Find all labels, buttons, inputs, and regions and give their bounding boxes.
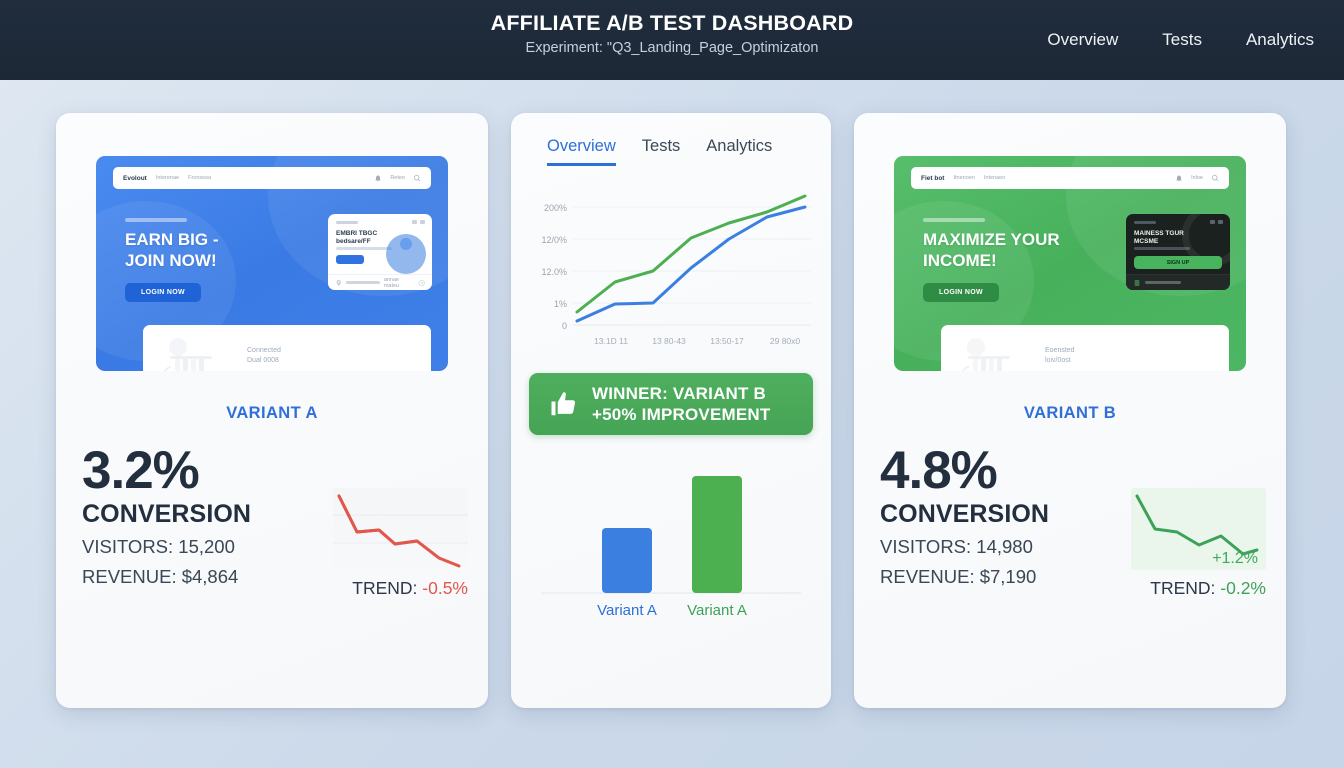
sparkline-svg [333,488,468,570]
panel-headline: EMBRI TBGC bedsare/FF [336,230,377,246]
mock-nav-item: Interenae [156,175,179,181]
nav-link-overview[interactable]: Overview [1047,30,1118,50]
panel-footer: annae mateu [328,274,432,290]
svg-text:12.0%: 12.0% [541,267,567,277]
winner-line-2: +50% IMPROVEMENT [592,404,770,425]
search-icon [413,174,421,182]
panel-button[interactable] [336,255,364,264]
svg-text:12/0%: 12/0% [541,235,567,245]
variant-b-stats: 4.8% CONVERSION VISITORS: 14,980 REVENUE… [874,446,1266,599]
location-pin-icon [335,279,342,287]
svg-text:13:50-17: 13:50-17 [710,336,744,346]
arrow-circle-icon [418,279,425,287]
mock-kicker-bar [125,218,187,222]
mock-nav-label: Reteo [390,175,405,181]
variant-a-trend-value: -0.5% [422,578,468,598]
panel-footer-note: annae mateu [384,277,414,289]
nav-link-analytics[interactable]: Analytics [1246,30,1314,50]
variant-a-trend-label: TREND: [352,578,417,598]
mock-kicker-bar [923,218,985,222]
mock-headline: EARN BIG - JOIN NOW! [125,230,219,271]
variant-b-primary-stats: 4.8% CONVERSION VISITORS: 14,980 REVENUE… [874,446,1049,588]
variant-b-revenue: REVENUE: $7,190 [880,565,1049,589]
svg-text:200%: 200% [544,203,567,213]
mock-nav-item: Intenaeo [984,175,1005,181]
panel-footer [1126,274,1230,290]
panel-dot [412,220,417,224]
mock-headline: MAXIMIZE YOUR INCOME! [923,230,1060,271]
panel-footer-line [1145,281,1181,284]
bell-icon [1175,174,1183,182]
thumbs-up-icon [549,389,579,419]
panel-top-line [1134,221,1156,224]
variant-a-conversion-value: 3.2% [82,446,251,497]
svg-text:29 80x0: 29 80x0 [770,336,801,346]
mock-nav-item: Fronsesa [188,175,211,181]
mock-hero-panel: MAINESS TGUR MCSME SIGN UP [1126,214,1230,290]
panel-dot [1210,220,1215,224]
variant-a-revenue: REVENUE: $4,864 [82,565,251,589]
variant-b-sparkline-label: +1.2% [1212,550,1258,568]
card-tabs: Overview Tests Analytics [511,131,831,166]
mock-navbar: Evolout Interenae Fronsesa Reteo [113,167,431,189]
panel-window-dots [412,220,425,224]
panel-window-dots [1210,220,1223,224]
variant-b-conversion-label: CONVERSION [880,500,1049,529]
search-icon [1211,174,1219,182]
variant-b-visitors: VISITORS: 14,980 [880,535,1049,559]
svg-text:13 80-43: 13 80-43 [652,336,686,346]
nav-link-tests[interactable]: Tests [1162,30,1202,50]
variant-a-stats: 3.2% CONVERSION VISITORS: 15,200 REVENUE… [76,446,468,599]
variant-a-sparkline-group: TREND: -0.5% [328,446,468,599]
variant-a-primary-stats: 3.2% CONVERSION VISITORS: 15,200 REVENUE… [76,446,251,588]
variant-a-visitors: VISITORS: 15,200 [82,535,251,559]
app-header: AFFILIATE A/B TEST DASHBOARD Experiment:… [0,0,1344,80]
winner-text: WINNER: VARIANT B +50% IMPROVEMENT [592,383,770,425]
mock-cta-button[interactable]: LOGIN NOW [923,283,999,302]
tab-analytics[interactable]: Analytics [706,137,772,166]
variant-a-conversion-label: CONVERSION [82,500,251,529]
bar-variant-a [602,528,652,593]
summary-card: Overview Tests Analytics 200% 12/0% 12.0… [511,113,831,708]
conversion-bar-chart: Variant A Variant A [531,463,811,628]
mock-navbar-actions: Reteo [374,174,421,182]
dashboard-body: Evolout Interenae Fronsesa Reteo EARN BI… [0,80,1344,708]
conversion-line-chart: 200% 12/0% 12.0% 1% 0 13.1D 11 13 80-43 … [519,184,823,354]
svg-text:13.1D 11: 13.1D 11 [594,336,628,346]
mock-navbar: Fiet bot Itnenoen Intenaeo Inloe [911,167,1229,189]
mock-hero-panel: EMBRI TBGC bedsare/FF annae mateu [328,214,432,290]
mock-lower-text: Connected Dual 0008 [247,346,281,367]
panel-signup-button[interactable]: SIGN UP [1134,256,1222,269]
mock-nav-label: Inloe [1191,175,1203,181]
svg-text:0: 0 [562,321,567,331]
mock-logo: Evolout [123,175,147,182]
variant-a-title: VARIANT A [76,404,468,423]
variant-b-trend-label: TREND: [1150,578,1215,598]
panel-dot [420,220,425,224]
variant-a-trend: TREND: -0.5% [328,578,468,599]
mock-logo: Fiet bot [921,175,944,182]
mock-lower-text: Eoensted loiv/0ost [1045,346,1075,367]
panel-subtext-bar [336,247,392,250]
document-icon [1133,279,1141,287]
mock-lower-section: Connected Dual 0008 [143,325,431,371]
variant-b-trend: TREND: -0.2% [1126,578,1266,599]
header-nav: Overview Tests Analytics [1047,0,1314,80]
tab-overview[interactable]: Overview [547,137,616,166]
panel-dot [1218,220,1223,224]
variant-b-sparkline: +1.2% [1131,488,1266,570]
variant-b-title: VARIANT B [874,404,1266,423]
winner-banner: WINNER: VARIANT B +50% IMPROVEMENT [529,373,813,435]
variant-b-landing-mockup[interactable]: Fiet bot Itnenoen Intenaeo Inloe MAXIMIZ… [894,156,1246,371]
svg-text:1%: 1% [554,299,567,309]
bell-icon [374,174,382,182]
line-chart-svg: 200% 12/0% 12.0% 1% 0 13.1D 11 13 80-43 … [519,184,823,349]
variant-b-conversion-value: 4.8% [880,446,1049,497]
variant-a-landing-mockup[interactable]: Evolout Interenae Fronsesa Reteo EARN BI… [96,156,448,371]
mock-nav-item: Itnenoen [953,175,974,181]
panel-headline: MAINESS TGUR MCSME [1134,230,1184,246]
bar-chart-svg: Variant A Variant A [531,463,811,623]
city-illustration [161,336,235,371]
tab-tests[interactable]: Tests [642,137,681,166]
mock-navbar-actions: Inloe [1175,174,1219,182]
variant-a-card: Evolout Interenae Fronsesa Reteo EARN BI… [56,113,488,708]
city-illustration [959,336,1033,371]
mock-lower-section: Eoensted loiv/0ost [941,325,1229,371]
person-head-illustration [400,238,412,250]
variant-a-sparkline [333,488,468,570]
winner-line-1: WINNER: VARIANT B [592,383,770,404]
variant-b-card: Fiet bot Itnenoen Intenaeo Inloe MAXIMIZ… [854,113,1286,708]
mock-cta-button[interactable]: LOGIN NOW [125,283,201,302]
variant-b-sparkline-group: +1.2% TREND: -0.2% [1126,446,1266,599]
bar-variant-b [692,476,742,593]
variant-b-trend-value: -0.2% [1220,578,1266,598]
panel-footer-line [346,281,379,284]
bar-label-right: Variant A [687,602,747,619]
panel-subtext-bar [1134,247,1190,250]
bar-label-left: Variant A [597,602,657,619]
panel-top-line [336,221,358,224]
